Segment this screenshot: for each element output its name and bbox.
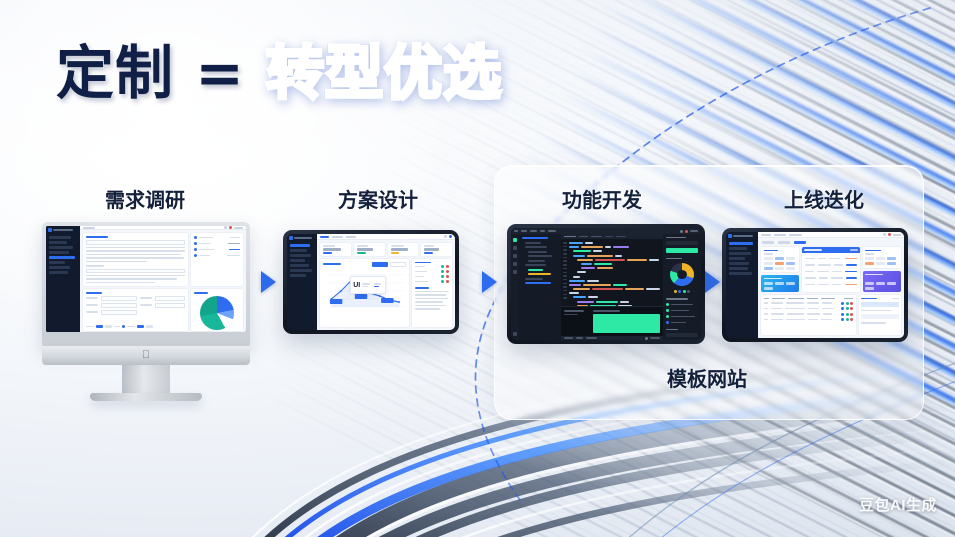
sidebar-item[interactable] (729, 267, 748, 270)
source-control-icon[interactable] (513, 254, 517, 258)
breadcrumb (83, 227, 95, 229)
imac-bezel (42, 222, 250, 346)
sidebar-item[interactable] (290, 254, 311, 257)
screen-analytics-design: UI (287, 234, 455, 330)
tree-item[interactable] (525, 264, 546, 266)
sidebar-item[interactable] (49, 271, 68, 274)
kpi-row (317, 240, 455, 259)
screen-code-editor (511, 228, 701, 340)
imac-stand-foot (90, 393, 202, 401)
highlight-card-purple (863, 271, 901, 292)
chart-toggle-active[interactable] (372, 262, 388, 267)
app-logo-icon (289, 236, 293, 240)
bell-icon[interactable] (224, 226, 227, 229)
pie-chart-card (191, 289, 243, 331)
screen-admin-console (726, 232, 904, 338)
sidebar-item[interactable] (729, 262, 749, 265)
tree-item[interactable] (528, 260, 545, 262)
slide-canvas: 定制 = 转型优选 需求调研 方案设计 功能开发 上线迭化 模板网站 (0, 0, 955, 537)
search-icon[interactable] (444, 235, 447, 238)
editor-tab[interactable] (591, 236, 602, 238)
avatar[interactable] (449, 235, 452, 238)
step-label-requirements: 需求调研 (105, 184, 185, 213)
tab[interactable] (762, 241, 774, 244)
metrics-card (761, 247, 799, 272)
app-logo-icon (48, 228, 52, 232)
avatar[interactable] (888, 233, 891, 236)
sidebar-item[interactable] (290, 269, 312, 272)
notifications-icon[interactable] (645, 337, 648, 340)
sidebar-item[interactable] (49, 261, 65, 264)
template-site-caption: 模板网站 (667, 363, 747, 392)
tree-item[interactable] (525, 246, 547, 248)
detail-card (83, 233, 188, 286)
sidebar-item[interactable] (729, 247, 747, 250)
editor-tab[interactable] (564, 236, 576, 238)
sidebar-item[interactable] (729, 252, 751, 255)
line-chart-card: UI (320, 259, 409, 328)
chart-tooltip: UI (350, 276, 386, 294)
page-title: 定制 = 转型优选 (56, 44, 502, 102)
editor-tab[interactable] (605, 236, 613, 238)
device-laptop-step3 (507, 224, 705, 344)
editor-tab[interactable] (579, 236, 588, 238)
device-tablet-step2: UI (283, 230, 459, 334)
user-name (234, 227, 243, 229)
ide-code-area[interactable] (561, 239, 663, 306)
explorer-icon[interactable] (513, 238, 517, 242)
tree-item[interactable] (525, 242, 541, 244)
bell-icon[interactable] (883, 233, 886, 236)
editor-tab[interactable] (616, 236, 626, 238)
tree-item-modified[interactable] (528, 269, 543, 271)
title-part-dark: 定制 = (56, 44, 245, 102)
kpi-card (320, 243, 351, 256)
sidebar-item[interactable] (49, 251, 69, 254)
rank-list-card (412, 259, 452, 328)
imac-stand-neck (122, 365, 170, 393)
sidebar-item-active[interactable] (729, 242, 753, 245)
tree-item-selected[interactable] (525, 282, 551, 284)
imac-chin:  (42, 346, 250, 365)
avatar[interactable] (229, 226, 232, 229)
terminal-progress-bar (593, 314, 660, 334)
minimize-icon[interactable] (680, 230, 683, 233)
table-card-primary (802, 247, 859, 292)
tab[interactable] (778, 241, 790, 244)
ide-status-bar (561, 336, 663, 340)
chart-toggle[interactable] (390, 262, 406, 267)
tree-item-added[interactable] (528, 273, 551, 275)
sidebar-item[interactable] (49, 246, 73, 249)
ide-file-tree[interactable] (519, 234, 561, 340)
debug-icon[interactable] (513, 262, 517, 266)
tab-bar[interactable] (761, 241, 901, 244)
device-laptop-step4 (722, 228, 908, 342)
step-label-launch: 上线迭化 (784, 184, 864, 213)
extensions-icon[interactable] (513, 270, 517, 274)
sidebar-item-active[interactable] (290, 244, 310, 247)
kpi-card (388, 243, 419, 256)
sidebar-item[interactable] (729, 257, 745, 260)
table-row[interactable] (764, 313, 854, 316)
ide-terminal[interactable] (561, 306, 663, 336)
sidebar-item[interactable] (290, 264, 309, 267)
title-part-blue: 转型优选 (266, 44, 502, 102)
activity-panel (859, 295, 901, 335)
line-numbers (563, 242, 567, 303)
panel-action-button[interactable] (666, 248, 698, 253)
ide-side-panel (663, 234, 701, 340)
step-label-design: 方案设计 (338, 184, 418, 213)
mini-sidebar[interactable] (287, 234, 317, 330)
apple-logo-icon:  (142, 350, 150, 361)
kpi-card (354, 243, 385, 256)
kpi-card (421, 243, 452, 256)
table-row[interactable] (764, 318, 854, 321)
screen-requirements-dashboard (46, 226, 246, 332)
form-card (83, 289, 188, 331)
sidebar-item[interactable] (290, 274, 306, 277)
sidebar-item[interactable] (49, 236, 71, 239)
table-row[interactable] (764, 302, 854, 305)
tree-item[interactable] (525, 278, 543, 280)
tooltip-title: UI (353, 282, 360, 289)
tree-item-root[interactable] (522, 237, 548, 239)
data-table[interactable] (761, 295, 856, 335)
metrics-card (863, 247, 901, 268)
gear-icon[interactable] (513, 332, 517, 336)
tree-item[interactable] (528, 251, 547, 253)
step-label-development: 功能开发 (562, 184, 642, 213)
table-header-row (764, 298, 854, 300)
sidebar-item[interactable] (49, 241, 67, 244)
mini-sidebar[interactable] (726, 232, 758, 338)
highlight-card-blue (761, 275, 799, 292)
tree-item[interactable] (528, 255, 552, 257)
sidebar-item[interactable] (290, 259, 305, 262)
sidebar-item[interactable] (729, 272, 752, 275)
device-imac-step1:  (42, 222, 250, 401)
table-row[interactable] (764, 307, 854, 310)
pie-chart (200, 296, 234, 330)
watermark: 豆包AI生成 (859, 494, 937, 515)
close-icon[interactable] (685, 230, 688, 233)
ide-activity-bar[interactable] (511, 234, 519, 340)
sidebar-item[interactable] (49, 266, 70, 269)
app-logo-icon (728, 234, 732, 238)
sidebar-item-active[interactable] (49, 256, 75, 259)
tab-active[interactable] (794, 241, 806, 244)
mini-sidebar[interactable] (46, 226, 80, 332)
status-list-card (191, 233, 243, 286)
donut-chart (670, 263, 694, 286)
sidebar-item[interactable] (290, 249, 307, 252)
search-icon[interactable] (513, 246, 517, 250)
card-header (802, 247, 859, 253)
